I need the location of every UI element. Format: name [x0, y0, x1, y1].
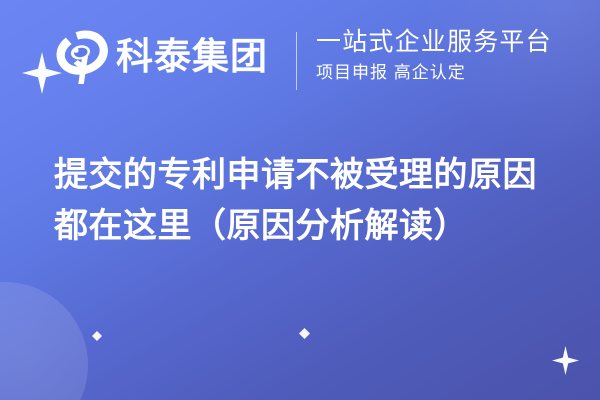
page-title: 提交的专利申请不被受理的原因 都在这里（原因分析解读） [54, 150, 554, 252]
page-title-line-2: 都在这里（原因分析解读） [54, 201, 554, 252]
brand-header-row: 科泰集团 一站式企业服务平台 项目申报 高企认定 [0, 22, 600, 100]
tagline-block: 一站式企业服务平台 项目申报 高企认定 [316, 26, 586, 85]
diamond-dot-icon-left [92, 331, 102, 341]
page-title-line-1: 提交的专利申请不被受理的原因 [54, 150, 554, 201]
kotai-swirl-emblem-icon [52, 27, 114, 89]
promo-banner: 科泰集团 一站式企业服务平台 项目申报 高企认定 提交的专利申请不被受理的原因 … [0, 0, 600, 400]
sparkle-star-icon-corner [552, 346, 579, 375]
diamond-dot-icon-center [299, 328, 310, 339]
tagline-primary: 一站式企业服务平台 [316, 26, 586, 58]
brand-name: 科泰集团 [116, 30, 268, 84]
tagline-secondary: 项目申报 高企认定 [316, 61, 586, 85]
brand-divider [296, 32, 297, 90]
soft-circle-glow-left [0, 282, 88, 400]
